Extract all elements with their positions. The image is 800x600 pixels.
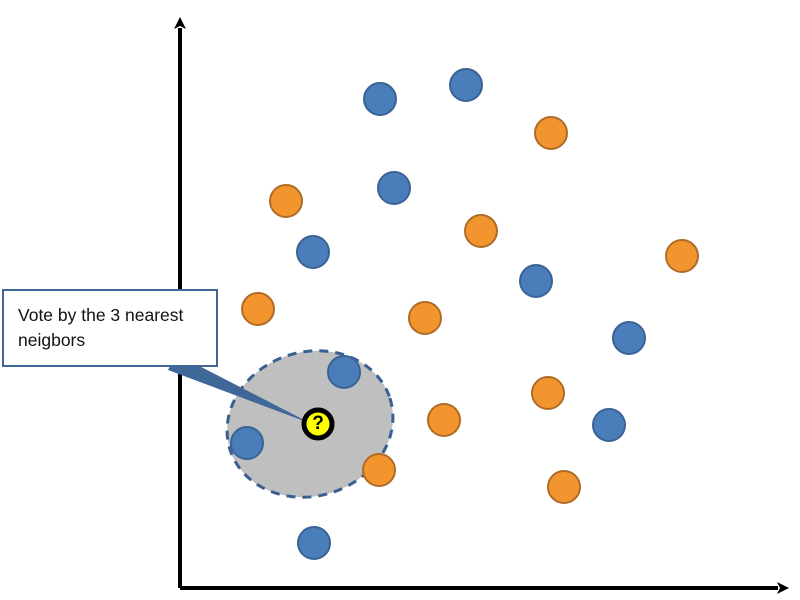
data-point-class-blue[interactable] — [450, 69, 482, 101]
data-point-class-orange[interactable] — [666, 240, 698, 272]
data-point-class-blue[interactable] — [613, 322, 645, 354]
data-point-class-orange[interactable] — [270, 185, 302, 217]
query-point-marker[interactable] — [304, 410, 332, 438]
data-point-class-orange[interactable] — [532, 377, 564, 409]
callout-text: Vote by the 3 nearest neigbors — [18, 303, 210, 353]
knn-diagram-canvas: Vote by the 3 nearest neigbors ? — [0, 0, 800, 600]
data-point-class-blue[interactable] — [520, 265, 552, 297]
data-point-class-orange[interactable] — [465, 215, 497, 247]
data-point-class-orange[interactable] — [242, 293, 274, 325]
data-point-class-blue[interactable] — [298, 527, 330, 559]
data-point-class-orange[interactable] — [428, 404, 460, 436]
data-point-class-orange[interactable] — [548, 471, 580, 503]
data-point-class-blue[interactable] — [328, 356, 360, 388]
data-point-class-blue[interactable] — [378, 172, 410, 204]
data-point-class-blue[interactable] — [364, 83, 396, 115]
callout-box: Vote by the 3 nearest neigbors — [2, 289, 218, 367]
data-point-class-blue[interactable] — [231, 427, 263, 459]
data-point-class-blue[interactable] — [297, 236, 329, 268]
data-point-class-orange[interactable] — [363, 454, 395, 486]
data-point-class-orange[interactable] — [409, 302, 441, 334]
data-point-class-blue[interactable] — [593, 409, 625, 441]
data-point-class-orange[interactable] — [535, 117, 567, 149]
